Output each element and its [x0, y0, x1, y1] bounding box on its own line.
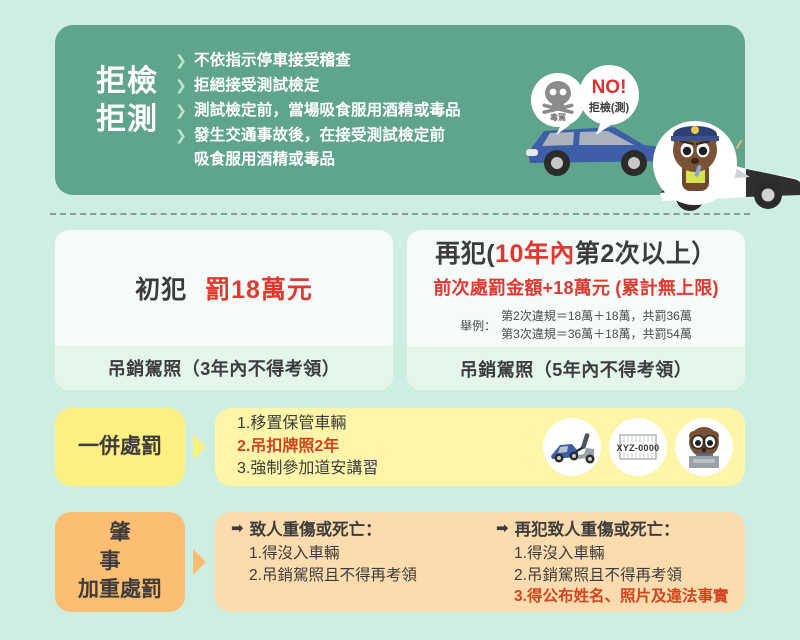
joint-penalty-list: 1.移置保管車輛 2.吊扣牌照2年 3.強制參加道安講習 — [215, 413, 378, 481]
first-offense-amount: 罰18萬元 — [205, 276, 313, 304]
header-bullet-item: ❯ 拒絕接受測試檢定 — [175, 74, 505, 98]
chevron-right-icon: ❯ — [175, 74, 187, 96]
list-item-number: 2. — [237, 436, 250, 459]
chevron-right-icon: ❯ — [175, 49, 187, 71]
example-label: 舉例： — [460, 317, 496, 334]
list-item-number: 1. — [514, 543, 527, 564]
list-item-text: 得公布姓名、照片及違法事實 — [527, 588, 729, 605]
accident-column-heading-text: 致人重傷或死亡： — [250, 516, 382, 540]
list-item-number: 1. — [237, 413, 250, 436]
repeat-title-highlight: 10年內 — [495, 240, 575, 268]
list-item: 2.吊扣牌照2年 — [237, 436, 378, 459]
joint-penalty-row: 一併處罰 1.移置保管車輛 2.吊扣牌照2年 3.強制參加道安講習 — [55, 408, 745, 486]
accident-badge-line1: 肇 事 — [55, 519, 185, 576]
repeat-offense-headline: 再犯(10年內第2次以上） 前次處罰金額+18萬元 (累計無上限) 舉例： 第2… — [407, 230, 745, 347]
arrow-right-icon: ➡ — [496, 519, 509, 537]
arrow-right-icon: ➡ — [231, 519, 244, 537]
bear-lecture-icon — [675, 418, 733, 476]
accident-penalty-panel: ➡ 致人重傷或死亡： 1.得沒入車輛 2.吊銷駕照且不得再考領 ➡ — [215, 512, 745, 612]
blue-car-icon — [526, 127, 671, 176]
list-item-text: 吊銷駕照且不得再考領 — [527, 567, 682, 584]
joint-penalty-badge: 一併處罰 — [55, 408, 185, 486]
header-panel: 拒檢 拒測 ❯ 不依指示停車接受稽查 ❯ 拒絕接受測試檢定 ❯ 測試檢定前，當場… — [55, 25, 745, 195]
repeat-offense-title: 再犯(10年內第2次以上） — [435, 234, 717, 270]
repeat-offense-license: 吊銷駕照（5年內不得考領） — [407, 347, 745, 390]
poison-bubble: 毒駕 — [531, 73, 585, 135]
joint-penalty-panel: 1.移置保管車輛 2.吊扣牌照2年 3.強制參加道安講習 — [215, 408, 745, 486]
accident-column-first: ➡ 致人重傷或死亡： 1.得沒入車輛 2.吊銷駕照且不得再考領 — [215, 516, 480, 607]
list-item-text: 得沒入車輛 — [262, 545, 340, 562]
repeat-offense-examples: 舉例： 第2次違規＝18萬＋18萬，共罰36萬 第3次違規＝36萬＋18萬，共罰… — [460, 307, 692, 343]
repeat-offense-amount: 前次處罰金額+18萬元 (累計無上限) — [433, 274, 718, 300]
repeat-offense-card: 再犯(10年內第2次以上） 前次處罰金額+18萬元 (累計無上限) 舉例： 第2… — [407, 230, 745, 390]
first-offense-prefix: 初犯 — [135, 276, 187, 304]
first-offense-headline: 初犯 罰18萬元 — [55, 230, 393, 346]
accident-penalty-badge: 肇 事 加重處罰 — [55, 512, 185, 612]
penalty-cards: 初犯 罰18萬元 吊銷駕照（3年內不得考領） 再犯(10年內第2次以上） 前次處… — [55, 230, 745, 390]
header-bullet-text: 不依指示停車接受稽查 — [194, 49, 351, 73]
first-offense-license: 吊銷駕照（3年內不得考領） — [55, 346, 393, 390]
refuse-bubble: NO! 拒檢(測) — [579, 65, 639, 135]
accident-column-repeat: ➡ 再犯致人重傷或死亡： 1.得沒入車輛 2.吊銷駕照且不得再考領 3.得公布姓… — [480, 516, 745, 607]
accident-column-heading: ➡ 致人重傷或死亡： — [231, 516, 480, 540]
accident-column-list: 1.得沒入車輛 2.吊銷駕照且不得再考領 3.得公布姓名、照片及違法事實 — [496, 543, 745, 607]
example-line: 第3次違規＝36萬＋18萬，共罰54萬 — [501, 325, 692, 343]
repeat-title-suffix: 第2次以上） — [575, 240, 717, 268]
bear-police-officer-icon — [653, 121, 737, 205]
list-item: 1.移置保管車輛 — [237, 413, 378, 436]
header-bullet-text: 拒絕接受測試檢定 — [194, 74, 320, 98]
list-item-number: 2. — [514, 565, 527, 586]
repeat-title-prefix: 再犯( — [435, 240, 495, 268]
first-offense-card: 初犯 罰18萬元 吊銷駕照（3年內不得考領） — [55, 230, 393, 390]
triangle-pointer-icon — [193, 549, 206, 575]
section-divider — [50, 213, 750, 215]
list-item-text: 移置保管車輛 — [250, 415, 346, 432]
list-item-text: 強制參加道安講習 — [250, 460, 378, 477]
header-bullet-item: ❯ 測試檢定前，當場吸食服用酒精或毒品 — [175, 99, 505, 123]
joint-penalty-icons: XYZ-0000 — [543, 418, 733, 476]
accident-badge-line2: 加重處罰 — [55, 576, 185, 604]
license-plate-number: XYZ-0000 — [617, 443, 660, 453]
accident-column-list: 1.得沒入車輛 2.吊銷駕照且不得再考領 — [231, 543, 480, 586]
list-item-number: 3. — [514, 586, 527, 607]
header-title: 拒檢 拒測 — [77, 63, 177, 140]
list-item: 3.強制參加道安講習 — [237, 458, 378, 481]
list-item-number: 3. — [237, 458, 250, 481]
chevron-right-icon: ❯ — [175, 124, 187, 146]
refuse-bubble-text: 拒檢(測) — [589, 100, 630, 114]
list-item: 1.得沒入車輛 — [249, 543, 480, 564]
poison-bubble-label: 毒駕 — [550, 112, 566, 122]
header-illustration: 毒駕 NO! 拒檢(測) — [510, 53, 800, 221]
header-bullet-item: ❯ 不依指示停車接受稽查 — [175, 49, 505, 73]
list-item-number: 1. — [249, 543, 262, 564]
list-item-text: 吊扣牌照2年 — [250, 438, 339, 455]
list-item-text: 得沒入車輛 — [527, 545, 605, 562]
list-item: 2.吊銷駕照且不得再考領 — [514, 565, 745, 586]
header-bullet-text: 測試檢定前，當場吸食服用酒精或毒品 — [194, 99, 461, 123]
list-item: 3.得公布姓名、照片及違法事實 — [514, 586, 745, 607]
infographic-page: 拒檢 拒測 ❯ 不依指示停車接受稽查 ❯ 拒絕接受測試檢定 ❯ 測試檢定前，當場… — [0, 0, 800, 640]
accident-penalty-row: 肇 事 加重處罰 ➡ 致人重傷或死亡： 1.得沒入車輛 — [55, 512, 745, 612]
refuse-bubble-title: NO! — [592, 77, 627, 98]
example-line: 第2次違規＝18萬＋18萬，共罰36萬 — [501, 307, 692, 325]
license-plate-icon: XYZ-0000 — [609, 418, 667, 476]
joint-penalty-badge-label: 一併處罰 — [78, 433, 162, 461]
list-item-text: 吊銷駕照且不得再考領 — [262, 567, 417, 584]
header-bullet-text: 發生交通事故後，在接受測試檢定前 吸食服用酒精或毒品 — [194, 124, 445, 172]
list-item: 2.吊銷駕照且不得再考領 — [249, 565, 480, 586]
accident-column-heading: ➡ 再犯致人重傷或死亡： — [496, 516, 745, 540]
accident-penalty-columns: ➡ 致人重傷或死亡： 1.得沒入車輛 2.吊銷駕照且不得再考領 ➡ — [215, 516, 745, 607]
triangle-pointer-icon — [193, 434, 206, 460]
header-bullet-item: ❯ 發生交通事故後，在接受測試檢定前 吸食服用酒精或毒品 — [175, 124, 505, 172]
accident-column-heading-text: 再犯致人重傷或死亡： — [515, 516, 680, 540]
example-lines: 第2次違規＝18萬＋18萬，共罰36萬 第3次違規＝36萬＋18萬，共罰54萬 — [501, 307, 692, 343]
tow-truck-icon — [543, 418, 601, 476]
chevron-right-icon: ❯ — [175, 99, 187, 121]
first-offense-line: 初犯 罰18萬元 — [135, 270, 313, 306]
list-item-number: 2. — [249, 565, 262, 586]
header-bullet-list: ❯ 不依指示停車接受稽查 ❯ 拒絕接受測試檢定 ❯ 測試檢定前，當場吸食服用酒精… — [175, 49, 505, 173]
list-item: 1.得沒入車輛 — [514, 543, 745, 564]
